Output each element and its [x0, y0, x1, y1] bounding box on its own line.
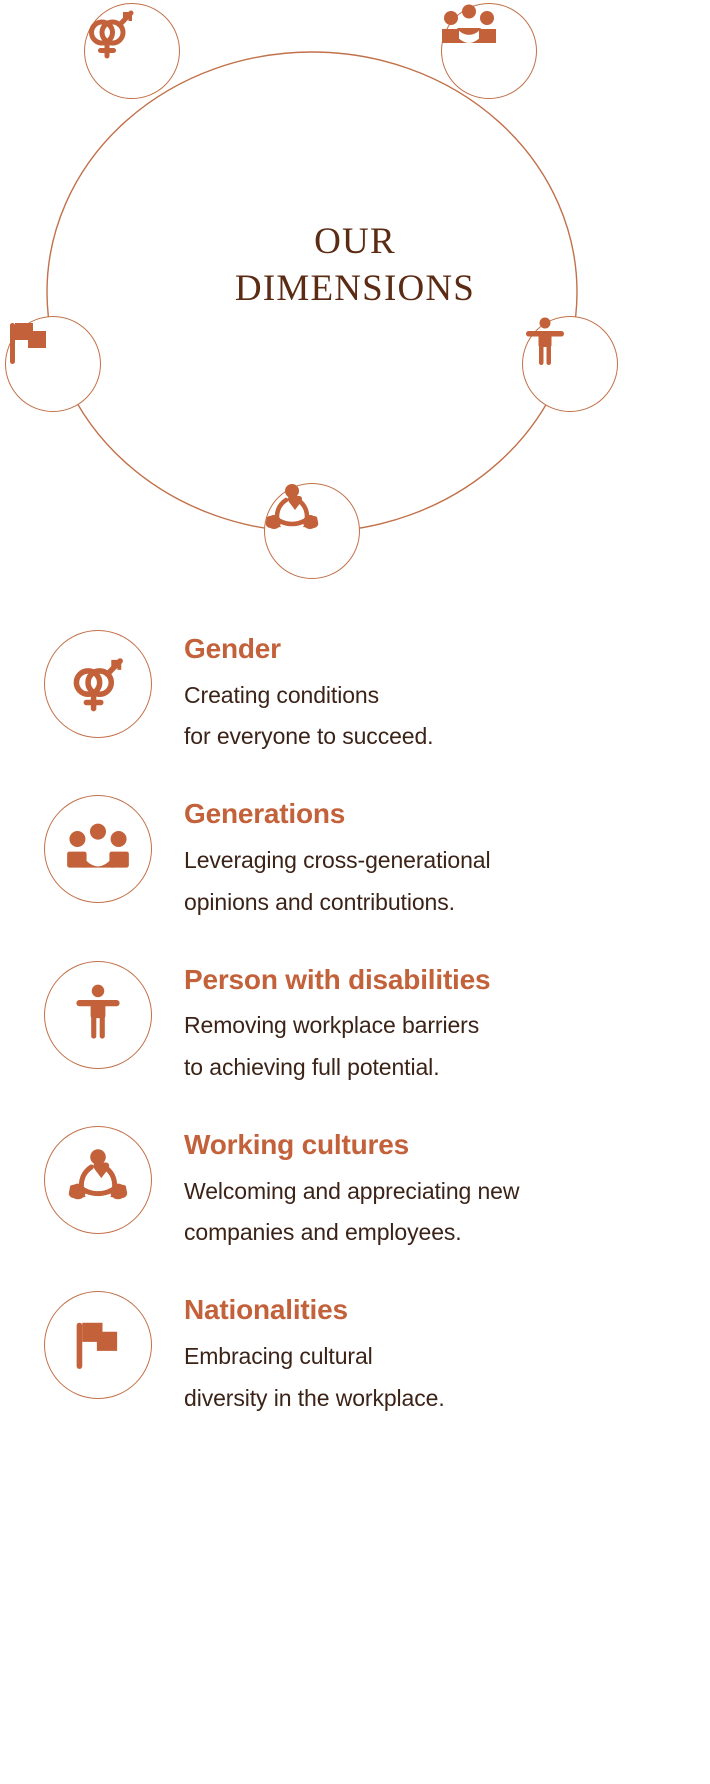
list-item[interactable]: Person with disabilities Removing workpl… [0, 957, 710, 1089]
list-item-description: Removing workplace barriers to achieving… [184, 1005, 490, 1089]
desc-line-1: Removing workplace barriers [184, 1005, 490, 1047]
list-item-text: Gender Creating conditions for everyone … [184, 626, 433, 758]
wheel-node-working-cultures[interactable] [264, 483, 360, 579]
list-item-title: Person with disabilities [184, 963, 490, 997]
wheel-node-disabilities[interactable] [522, 316, 618, 412]
desc-line-1: Leveraging cross-generational [184, 840, 491, 882]
desc-line-2: opinions and contributions. [184, 882, 491, 924]
wheel-title-line2: DIMENSIONS [0, 265, 710, 312]
list-item-text: Working cultures Welcoming and appreciat… [184, 1122, 519, 1254]
list-item-title: Gender [184, 632, 433, 666]
list-item-text: Person with disabilities Removing workpl… [184, 957, 490, 1089]
list-item-title: Working cultures [184, 1128, 519, 1162]
list-item-icon-disabilities [44, 961, 152, 1069]
working-cultures-icon [68, 1149, 128, 1210]
desc-line-1: Embracing cultural [184, 1336, 445, 1378]
wheel-title-line1: OUR [314, 221, 396, 262]
desc-line-1: Welcoming and appreciating new [184, 1171, 519, 1213]
list-item-title: Nationalities [184, 1293, 445, 1327]
list-item[interactable]: Nationalities Embracing cultural diversi… [0, 1287, 710, 1419]
list-item[interactable]: Generations Leveraging cross-generationa… [0, 791, 710, 923]
list-item-text: Generations Leveraging cross-generationa… [184, 791, 491, 923]
infographic-page: OUR DIMENSIONS [0, 0, 710, 1784]
accessibility-person-icon [73, 984, 123, 1046]
wheel-node-gender[interactable] [84, 3, 180, 99]
list-item-description: Embracing cultural diversity in the work… [184, 1336, 445, 1420]
list-item-description: Leveraging cross-generational opinions a… [184, 840, 491, 924]
flag-icon [72, 1316, 124, 1375]
list-item[interactable]: Working cultures Welcoming and appreciat… [0, 1122, 710, 1254]
list-item-icon-working-cultures [44, 1126, 152, 1234]
desc-line-2: for everyone to succeed. [184, 716, 433, 758]
dimensions-wheel: OUR DIMENSIONS [0, 0, 710, 620]
desc-line-2: diversity in the workplace. [184, 1378, 445, 1420]
dimensions-list: Gender Creating conditions for everyone … [0, 626, 710, 1453]
gender-icon [69, 651, 127, 718]
desc-line-2: to achieving full potential. [184, 1047, 490, 1089]
generations-people-icon [67, 823, 129, 876]
desc-line-1: Creating conditions [184, 675, 433, 717]
list-item-text: Nationalities Embracing cultural diversi… [184, 1287, 445, 1419]
list-item-icon-gender [44, 630, 152, 738]
list-item-description: Welcoming and appreciating new companies… [184, 1171, 519, 1255]
desc-line-2: companies and employees. [184, 1212, 519, 1254]
wheel-node-generations[interactable] [441, 3, 537, 99]
list-item-description: Creating conditions for everyone to succ… [184, 675, 433, 759]
list-item[interactable]: Gender Creating conditions for everyone … [0, 626, 710, 758]
list-item-title: Generations [184, 797, 491, 831]
wheel-node-nationalities[interactable] [5, 316, 101, 412]
list-item-icon-nationalities [44, 1291, 152, 1399]
list-item-icon-generations [44, 795, 152, 903]
wheel-title: OUR DIMENSIONS [0, 218, 710, 313]
